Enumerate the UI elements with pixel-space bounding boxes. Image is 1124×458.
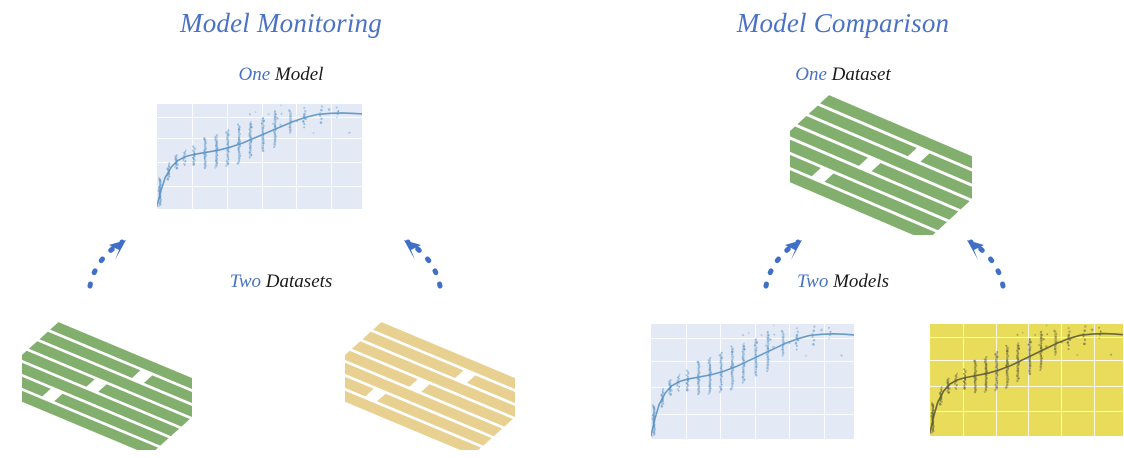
scatter-point [796, 335, 798, 337]
scatter-point [1091, 329, 1094, 332]
label-one-model-rest: Model [275, 64, 324, 85]
scatter-point [1042, 338, 1044, 340]
scatter-point [662, 388, 664, 390]
scatter-point [1084, 339, 1086, 341]
scatter-plot-one-model [157, 104, 362, 209]
scatter-point [194, 151, 196, 153]
scatter-point [1068, 330, 1071, 333]
scatter-point [237, 124, 239, 126]
scatter-point [954, 387, 956, 389]
scatter-point [1046, 325, 1048, 327]
scatter-point [1068, 327, 1070, 329]
scatter-point [185, 149, 187, 151]
scatter-point [1038, 344, 1040, 346]
scatter-point [1083, 343, 1086, 346]
panel-model-comparison: Model Comparison One Dataset Two Models [562, 0, 1124, 458]
dataset-glyph-green-left [22, 322, 192, 450]
fitted-curve [651, 334, 854, 436]
scatter-point [1068, 344, 1070, 346]
scatter-point [820, 329, 823, 332]
label-one-model-accent: One [239, 64, 271, 85]
scatter-point [281, 113, 283, 115]
scatter-point [1068, 335, 1070, 337]
scatter-point [303, 123, 305, 125]
scatter-point [303, 107, 305, 109]
scatter-point [272, 123, 274, 125]
scatter-point [769, 338, 771, 340]
scatter-point [168, 162, 170, 164]
scatter-point [805, 355, 807, 357]
scatter-point [276, 117, 278, 119]
scatter-point [1082, 335, 1084, 337]
scatter-point [721, 352, 723, 354]
scatter-point [267, 113, 269, 115]
scatter-point [813, 325, 816, 328]
label-two-models: Two Models [562, 271, 1124, 293]
scatter-point [167, 177, 169, 179]
scatter-point [1083, 329, 1086, 332]
scatter-point [280, 104, 282, 106]
scatter-point [687, 376, 689, 378]
scatter-point [773, 325, 775, 327]
plot-canvas [651, 324, 854, 439]
scatter-point [678, 375, 680, 377]
scatter-point [956, 384, 958, 386]
scatter-point [320, 109, 323, 112]
scatter-point [956, 373, 958, 375]
scatter-point [1110, 354, 1112, 356]
label-two-datasets-accent: Two [230, 271, 261, 292]
scatter-point [748, 332, 750, 334]
plot-canvas [930, 324, 1123, 436]
scatter-point [1068, 348, 1070, 350]
scatter-point [661, 404, 663, 406]
scatter-point [1076, 354, 1078, 356]
scatter-point [336, 116, 338, 118]
scatter-point [321, 105, 324, 108]
scatter-point [348, 132, 350, 134]
fitted-curve [157, 113, 362, 206]
scatter-point [840, 354, 842, 356]
scatter-point [303, 126, 305, 128]
scatter-point [828, 338, 830, 340]
dataset-glyph-svg [790, 95, 972, 235]
scatter-point [304, 110, 307, 113]
scatter-point [1018, 348, 1020, 350]
scatter-point [742, 334, 744, 336]
scatter-point [941, 386, 943, 388]
scatter-point [760, 334, 762, 336]
scatter-point [796, 327, 798, 329]
scatter-point [302, 121, 305, 124]
scatter-point [249, 113, 251, 115]
arrow-up-left-comparison [955, 218, 1015, 290]
scatter-point [176, 154, 178, 156]
scatter-point [830, 331, 832, 333]
panel-model-monitoring: Model Monitoring One Model Two Datasets [0, 0, 562, 458]
section-title-model-monitoring: Model Monitoring [0, 8, 562, 39]
scatter-point [328, 108, 331, 111]
scatter-point [320, 121, 323, 124]
scatter-point [1099, 337, 1101, 339]
scatter-point [320, 118, 322, 120]
scatter-point [192, 145, 194, 147]
scatter-point [795, 342, 798, 345]
scatter-point [686, 369, 688, 371]
arrow-icon [754, 218, 814, 290]
scatter-point [1034, 334, 1036, 336]
scatter-point [812, 329, 815, 332]
arrow-icon [78, 218, 138, 290]
scatter-point [796, 345, 798, 347]
scatter-point [812, 343, 815, 346]
scatter-point [1005, 345, 1007, 347]
scatter-point [963, 368, 965, 370]
scatter-point [813, 339, 815, 341]
scatter-point [251, 126, 253, 128]
scatter-point [185, 160, 187, 162]
dataset-glyph-green-top [790, 95, 972, 235]
scatter-point [948, 378, 950, 380]
label-one-dataset-accent: One [795, 64, 827, 85]
scatter-point [939, 402, 941, 404]
scatter-point [192, 150, 194, 152]
scatter-point [677, 388, 679, 390]
scatter-point [828, 327, 830, 329]
scatter-point [336, 107, 338, 109]
label-one-dataset: One Dataset [562, 64, 1124, 86]
scatter-point [679, 374, 681, 376]
section-title-model-comparison: Model Comparison [562, 8, 1124, 39]
scatter-point [1046, 333, 1048, 335]
scatter-point [312, 132, 314, 134]
scatter-point [1067, 342, 1070, 345]
label-one-model: One Model [0, 64, 562, 86]
dataset-glyph-tan-right [345, 322, 515, 450]
scatter-point [678, 386, 680, 388]
scatter-point [303, 114, 305, 116]
label-two-models-rest: Models [833, 271, 889, 292]
scatter-point [963, 373, 965, 375]
label-two-datasets-rest: Datasets [266, 271, 333, 292]
arrow-up-right-monitoring [78, 218, 138, 290]
dataset-glyph-svg [345, 322, 515, 450]
label-one-dataset-rest: Dataset [832, 64, 891, 85]
scatter-point [1100, 331, 1102, 333]
scatter-point [765, 345, 767, 347]
scatter-point [1098, 327, 1100, 329]
scatter-point [1016, 334, 1018, 336]
arrow-up-left-monitoring [392, 218, 452, 290]
scatter-point [811, 336, 813, 338]
scatter-point [686, 374, 688, 376]
scatter-point [337, 110, 339, 112]
plot-canvas [157, 104, 362, 209]
scatter-point [744, 348, 746, 350]
arrow-icon [955, 218, 1015, 290]
scatter-point [255, 111, 257, 113]
arrow-up-right-comparison [754, 218, 814, 290]
fitted-curve [930, 334, 1123, 433]
scatter-point [796, 331, 799, 334]
scatter-point [773, 334, 775, 336]
arrow-icon [392, 218, 452, 290]
scatter-plot-model-a [651, 324, 854, 439]
scatter-plot-model-b [930, 324, 1123, 436]
scatter-point [1084, 325, 1087, 328]
dataset-glyph-svg [22, 322, 192, 450]
scatter-point [796, 349, 798, 351]
scatter-point [730, 345, 732, 347]
scatter-point [1022, 332, 1024, 334]
scatter-point [766, 370, 768, 372]
scatter-point [670, 379, 672, 381]
scatter-point [1039, 369, 1041, 371]
